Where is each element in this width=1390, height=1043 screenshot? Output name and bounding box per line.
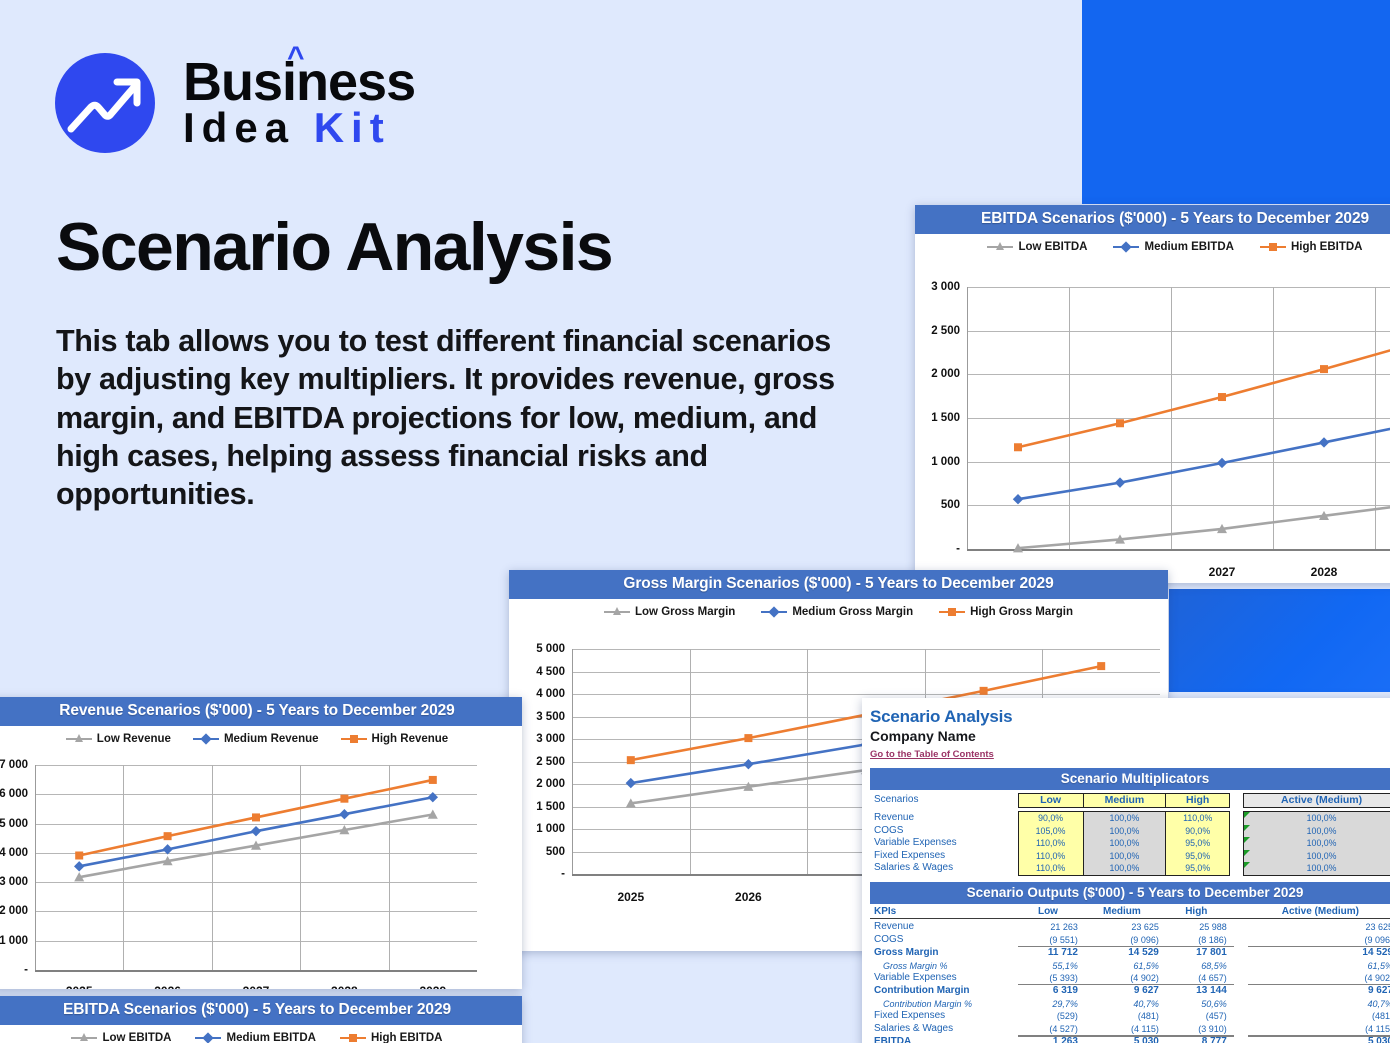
legend-swatch-high [1260,246,1286,249]
kpi-value-active: (9 096) [1248,934,1390,947]
kpi-label: Gross Margin % [870,960,1018,972]
table-spacer [1234,947,1248,960]
y-axis-tick-label: 2 000 [931,368,960,380]
multiplier-active: 100,0% [1244,812,1390,825]
legend-swatch-medium [761,611,787,614]
multiplier-low[interactable]: 110,0% [1018,837,1083,850]
kpi-row: EBITDA1 2635 0308 7775 030 [870,1036,1390,1043]
kpi-value-high: (457) [1166,1010,1234,1022]
y-axis-tick-label: 1 000 [0,935,28,947]
kpi-value-active: (4 902) [1248,972,1390,985]
y-axis-tick-label: 500 [941,499,960,511]
kpi-value-high: (3 910) [1166,1023,1234,1036]
kpi-value-medium: 9 627 [1085,985,1166,998]
kpi-value-high: 68,5% [1166,960,1234,972]
x-axis-tick-label: 2028 [1311,565,1338,579]
page-title: Scenario Analysis [56,208,612,286]
multiplier-high[interactable]: 95,0% [1166,837,1230,850]
table-spacer [1234,906,1248,919]
chart-series-layer [35,765,477,970]
table-spacer [1230,812,1244,825]
legend-item-medium: Medium Gross Margin [761,606,913,618]
table-spacer [1230,837,1244,850]
brand-logo: Business ^ Idea Kit [55,53,415,153]
kpi-value-high: (8 186) [1166,934,1234,947]
column-header-active: Active (Medium) [1248,906,1390,919]
legend-label-medium: Medium EBITDA [1144,241,1233,253]
legend-label-low: Low EBITDA [102,1032,171,1043]
kpi-label: COGS [870,934,1018,947]
table-spacer [1234,972,1248,985]
y-axis-tick-label: 3 000 [536,733,565,745]
kpi-label: Salaries & Wages [870,1023,1018,1036]
y-axis-tick-label: 3 000 [0,876,28,888]
square-marker-icon [349,1034,357,1042]
square-marker-icon [948,608,956,616]
y-axis-tick-label: 4 500 [536,666,565,678]
kpi-value-active: (4 115) [1248,1023,1390,1036]
section-header-multiplicators: Scenario Multiplicators [870,768,1390,790]
table-spacer [1234,960,1248,972]
kpi-row: Gross Margin %55,1%61,5%68,5%61,5% [870,960,1390,972]
kpi-value-high: 25 988 [1166,921,1234,933]
kpi-value-low: (5 393) [1018,972,1085,985]
section-header-outputs: Scenario Outputs ($'000) - 5 Years to De… [870,882,1390,904]
table-header-row: ScenariosLowMediumHighActive (Medium) [870,794,1390,808]
column-header-active: Active (Medium) [1244,794,1390,808]
legend-label-high: High Revenue [372,733,449,745]
multiplier-low[interactable]: 105,0% [1018,825,1083,838]
chart-plot-revenue: -1 0002 0003 0004 0005 0006 0007 0002025… [35,765,477,970]
column-header-kpis: KPIs [870,906,1018,919]
diamond-marker-icon [769,606,780,617]
table-spacer [1234,985,1248,998]
x-axis-tick-label: 2025 [66,984,93,989]
kpi-value-active: 5 030 [1248,1036,1390,1043]
legend-swatch-low [987,246,1013,249]
y-axis-tick-label: 5 000 [0,818,28,830]
multiplicator-row: Revenue90,0%100,0%110,0%100,0% [870,812,1390,825]
multiplier-high[interactable]: 95,0% [1166,850,1230,863]
chart-gridline [35,970,477,972]
chart-series-line [1018,503,1390,548]
table-spacer [1230,825,1244,838]
kpi-value-low: (9 551) [1018,934,1085,947]
multiplier-medium[interactable]: 100,0% [1083,837,1166,850]
legend-swatch-high [340,1037,366,1040]
chart-card-revenue: Revenue Scenarios ($'000) - 5 Years to D… [0,697,522,989]
table-spacer [1234,921,1248,933]
multiplier-active: 100,0% [1244,862,1390,875]
legend-swatch-medium [193,738,219,741]
chart-card-ebitda-top: EBITDA Scenarios ($'000) - 5 Years to De… [915,205,1390,583]
legend-label-medium: Medium Gross Margin [792,606,913,618]
kpi-value-active: 14 529 [1248,947,1390,960]
kpi-value-low: 6 319 [1018,985,1085,998]
table-spacer [1230,794,1244,808]
chart-legend-ebitda-top: Low EBITDA Medium EBITDA High EBITDA [915,234,1390,256]
column-header-high: High [1166,906,1234,919]
row-label: COGS [870,825,1018,838]
y-axis-tick-label: 1 500 [931,412,960,424]
multiplier-high[interactable]: 95,0% [1166,862,1230,875]
kpi-row: COGS(9 551)(9 096)(8 186)(9 096) [870,934,1390,947]
row-label: Fixed Expenses [870,850,1018,863]
table-corner-label: Scenarios [870,794,1018,808]
kpi-row: Contribution Margin %29,7%40,7%50,6%40,7… [870,998,1390,1010]
y-axis-tick-label: 500 [546,846,565,858]
chart-plot-ebitda-top: -5001 0001 5002 0002 5003 00020272028 [967,287,1390,549]
kpi-row: Gross Margin11 71214 52917 80114 529 [870,947,1390,960]
legend-swatch-high [939,611,965,614]
kpi-value-active: (481) [1248,1010,1390,1022]
legend-item-high: High Gross Margin [939,606,1073,618]
kpi-value-medium: (481) [1085,1010,1166,1022]
y-axis-tick-label: 3 000 [931,281,960,293]
multiplicator-row: Fixed Expenses110,0%100,0%95,0%100,0% [870,850,1390,863]
multiplier-active: 100,0% [1244,837,1390,850]
kpi-value-low: (4 527) [1018,1023,1085,1036]
scenario-analysis-panel: Scenario Analysis Company Name Go to the… [862,698,1390,1043]
multiplicator-row: COGS105,0%100,0%90,0%100,0% [870,825,1390,838]
legend-label-high: High EBITDA [371,1032,443,1043]
triangle-marker-icon [613,607,621,615]
multiplier-active: 100,0% [1244,825,1390,838]
kpi-label: Fixed Expenses [870,1010,1018,1022]
kpi-value-high: 50,6% [1166,998,1234,1010]
kpi-label: Variable Expenses [870,972,1018,985]
kpi-value-high: 13 144 [1166,985,1234,998]
chart-legend-ebitda-bottom: Low EBITDA Medium EBITDA High EBITDA [0,1025,522,1043]
kpi-value-low: 55,1% [1018,960,1085,972]
table-spacer [1234,1023,1248,1036]
row-label: Salaries & Wages [870,862,1018,875]
y-axis-tick-label: 1 500 [536,801,565,813]
kpi-value-medium: (4 902) [1085,972,1166,985]
kpi-value-low: 29,7% [1018,998,1085,1010]
column-header-low: Low [1018,794,1083,808]
kpi-label: EBITDA [870,1036,1018,1043]
slide-canvas: Business ^ Idea Kit Scenario Analysis Th… [0,0,1390,1043]
kpi-row: Contribution Margin6 3199 62713 1449 627 [870,985,1390,998]
y-axis-tick-label: - [561,868,565,880]
kpi-value-low: (529) [1018,1010,1085,1022]
y-axis-tick-label: - [24,964,28,976]
table-spacer [1234,934,1248,947]
brand-accent-mark: ^ [287,43,304,72]
kpi-value-low: 11 712 [1018,947,1085,960]
chart-legend-gross-margin: Low Gross Margin Medium Gross Margin Hig… [509,599,1168,621]
y-axis-tick-label: 4 000 [536,688,565,700]
kpi-value-medium: (4 115) [1085,1023,1166,1036]
table-spacer [1230,850,1244,863]
y-axis-tick-label: 1 000 [931,456,960,468]
multiplier-medium[interactable]: 100,0% [1083,812,1166,825]
legend-swatch-low [71,1037,97,1040]
legend-item-low: Low Gross Margin [604,606,735,618]
triangle-marker-icon [996,242,1004,250]
legend-label-high: High EBITDA [1291,241,1363,253]
y-axis-tick-label: 6 000 [0,788,28,800]
kpi-row: Salaries & Wages(4 527)(4 115)(3 910)(4 … [870,1023,1390,1036]
square-marker-icon [350,735,358,743]
legend-label-low: Low Gross Margin [635,606,735,618]
chart-title-ebitda-top: EBITDA Scenarios ($'000) - 5 Years to De… [915,205,1390,234]
kpi-value-low: 21 263 [1018,921,1085,933]
kpi-label: Contribution Margin % [870,998,1018,1010]
legend-swatch-high [341,738,367,741]
multiplicator-row: Salaries & Wages110,0%100,0%95,0%100,0% [870,862,1390,875]
kpi-value-active: 9 627 [1248,985,1390,998]
kpi-value-medium: 61,5% [1085,960,1166,972]
multiplier-medium[interactable]: 100,0% [1083,850,1166,863]
panel-title: Scenario Analysis [870,707,1390,727]
multiplier-high[interactable]: 90,0% [1166,825,1230,838]
kpi-value-high: 17 801 [1166,947,1234,960]
panel-company-name: Company Name [870,728,1390,744]
kpi-value-active: 61,5% [1248,960,1390,972]
trend-arrow-icon [55,53,155,153]
x-axis-tick-label: 2027 [1209,565,1236,579]
x-axis-tick-label: 2025 [617,890,644,904]
x-axis-tick-label: 2026 [154,984,181,989]
legend-item-low: Low EBITDA [987,241,1087,253]
kpi-value-medium: (9 096) [1085,934,1166,947]
y-axis-tick-label: 2 000 [0,905,28,917]
legend-label-medium: Medium EBITDA [226,1032,315,1043]
diamond-marker-icon [203,1032,214,1043]
legend-item-medium: Medium Revenue [193,733,319,745]
chart-series-layer [967,287,1390,549]
multiplier-medium[interactable]: 100,0% [1083,825,1166,838]
y-axis-tick-label: - [956,543,960,555]
column-header-medium: Medium [1085,906,1166,919]
kpi-label: Gross Margin [870,947,1018,960]
scenario-multiplicators-table: ScenariosLowMediumHighActive (Medium)Rev… [870,793,1390,876]
kpi-value-active: 40,7% [1248,998,1390,1010]
table-spacer [1234,1010,1248,1022]
scenario-outputs-table: KPIsLowMediumHighActive (Medium)Revenue2… [870,906,1390,1043]
y-axis-tick-label: 2 000 [536,778,565,790]
kpi-value-active: 23 625 [1248,921,1390,933]
column-header-high: High [1166,794,1230,808]
column-header-medium: Medium [1083,794,1166,808]
legend-item-medium: Medium EBITDA [1113,241,1233,253]
row-label: Variable Expenses [870,837,1018,850]
row-label: Revenue [870,812,1018,825]
kpi-value-low: 1 263 [1018,1036,1085,1043]
chart-gridline [967,549,1390,551]
y-axis-tick-label: 4 000 [0,847,28,859]
square-marker-icon [1269,243,1277,251]
diamond-marker-icon [200,733,211,744]
legend-item-low: Low EBITDA [71,1032,171,1043]
y-axis-tick-label: 2 500 [931,325,960,337]
y-axis-tick-label: 5 000 [536,643,565,655]
x-axis-tick-label: 2029 [419,984,446,989]
table-spacer [1234,998,1248,1010]
chart-title-revenue: Revenue Scenarios ($'000) - 5 Years to D… [0,697,522,726]
legend-item-high: High EBITDA [340,1032,443,1043]
kpi-row: Fixed Expenses(529)(481)(457)(481) [870,1010,1390,1022]
page-description: This tab allows you to test different fi… [56,322,856,513]
chart-card-ebitda-bottom: EBITDA Scenarios ($'000) - 5 Years to De… [0,996,522,1043]
legend-label-low: Low EBITDA [1018,241,1087,253]
chart-series-line [1018,340,1390,447]
kpi-label: Contribution Margin [870,985,1018,998]
kpi-value-high: 8 777 [1166,1036,1234,1043]
kpi-row: Variable Expenses(5 393)(4 902)(4 657)(4… [870,972,1390,985]
triangle-marker-icon [80,1033,88,1041]
x-axis-tick-label: 2026 [735,890,762,904]
legend-swatch-low [604,611,630,614]
kpi-value-medium: 14 529 [1085,947,1166,960]
triangle-marker-icon [75,734,83,742]
legend-item-high: High Revenue [341,733,449,745]
y-axis-tick-label: 3 500 [536,711,565,723]
y-axis-tick-label: 1 000 [536,823,565,835]
kpi-label: Revenue [870,921,1018,933]
legend-label-low: Low Revenue [97,733,171,745]
x-axis-tick-label: 2027 [243,984,270,989]
legend-label-high: High Gross Margin [970,606,1073,618]
kpi-value-high: (4 657) [1166,972,1234,985]
kpi-value-medium: 40,7% [1085,998,1166,1010]
multiplier-high[interactable]: 110,0% [1166,812,1230,825]
x-axis-tick-label: 2028 [331,984,358,989]
kpi-value-medium: 23 625 [1085,921,1166,933]
multiplier-low[interactable]: 110,0% [1018,862,1083,875]
decorative-blue-block-top [1082,0,1390,204]
kpi-value-medium: 5 030 [1085,1036,1166,1043]
legend-item-low: Low Revenue [66,733,171,745]
table-spacer [1230,862,1244,875]
chart-title-ebitda-bottom: EBITDA Scenarios ($'000) - 5 Years to De… [0,996,522,1025]
legend-swatch-medium [1113,246,1139,249]
y-axis-tick-label: 2 500 [536,756,565,768]
kpi-row: Revenue21 26323 62525 98823 625 [870,921,1390,933]
table-of-contents-link[interactable]: Go to the Table of Contents [870,749,994,760]
multiplier-active: 100,0% [1244,850,1390,863]
multiplier-low[interactable]: 110,0% [1018,850,1083,863]
diamond-marker-icon [1121,241,1132,252]
multiplicator-row: Variable Expenses110,0%100,0%95,0%100,0% [870,837,1390,850]
table-spacer [1234,1036,1248,1043]
multiplier-medium[interactable]: 100,0% [1083,862,1166,875]
legend-swatch-low [66,738,92,741]
decorative-blue-block-bottom [1169,589,1390,692]
legend-swatch-medium [195,1037,221,1040]
chart-legend-revenue: Low Revenue Medium Revenue High Revenue [0,726,522,748]
multiplier-low[interactable]: 90,0% [1018,812,1083,825]
chart-title-gross-margin: Gross Margin Scenarios ($'000) - 5 Years… [509,570,1168,599]
table-header-row: KPIsLowMediumHighActive (Medium) [870,906,1390,919]
legend-item-medium: Medium EBITDA [195,1032,315,1043]
legend-label-medium: Medium Revenue [224,733,319,745]
y-axis-tick-label: 7 000 [0,759,28,771]
legend-item-high: High EBITDA [1260,241,1363,253]
column-header-low: Low [1018,906,1085,919]
